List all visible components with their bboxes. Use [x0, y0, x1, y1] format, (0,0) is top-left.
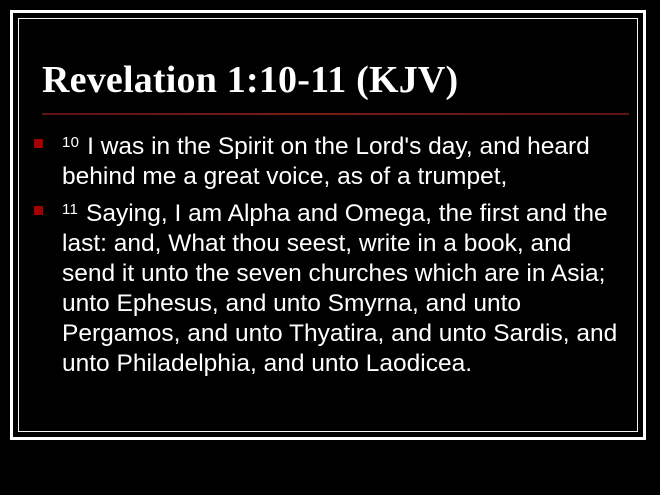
scripture-bullet-list: 10 I was in the Spirit on the Lord's day… [30, 115, 630, 379]
page-title: Revelation 1:10-11 (KJV) [30, 26, 630, 102]
verse-text: Saying, I am Alpha and Omega, the first … [62, 200, 617, 377]
presentation-slide: Revelation 1:10-11 (KJV) 10 I was in the… [0, 0, 660, 495]
verse-number: 11 [62, 201, 78, 218]
list-item: 11 Saying, I am Alpha and Omega, the fir… [30, 195, 630, 379]
slide-content: Revelation 1:10-11 (KJV) 10 I was in the… [30, 26, 630, 424]
verse-text: I was in the Spirit on the Lord's day, a… [62, 133, 590, 190]
list-item: 10 I was in the Spirit on the Lord's day… [30, 128, 630, 192]
square-bullet-icon [34, 206, 43, 215]
square-bullet-icon [34, 139, 43, 148]
verse-number: 10 [62, 134, 79, 151]
